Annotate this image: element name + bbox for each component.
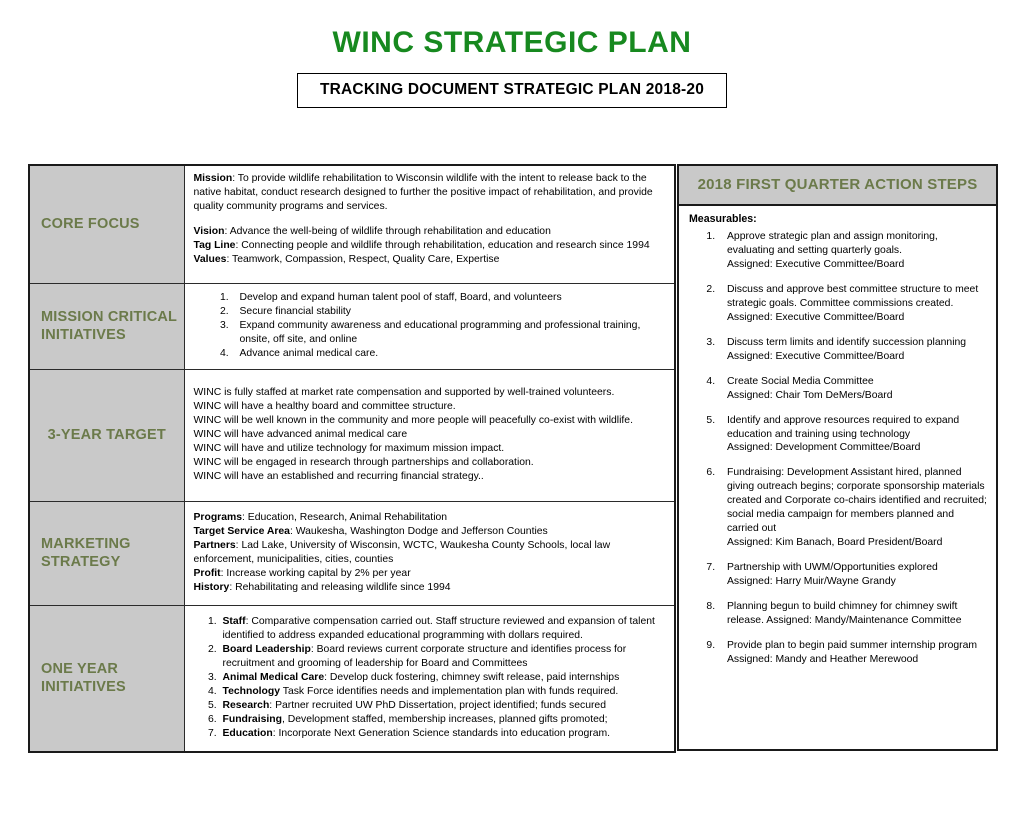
vision-line: Vision: Advance the well-being of wildli… xyxy=(194,225,666,239)
step-text: Provide plan to begin paid summer intern… xyxy=(727,640,977,651)
target-line: WINC will be engaged in research through… xyxy=(194,456,666,470)
row-content-one-year-initiatives: Staff: Comparative compensation carried … xyxy=(184,605,675,752)
step-text: Approve strategic plan and assign monito… xyxy=(727,231,938,256)
profit-line: Profit: Increase working capital by 2% p… xyxy=(194,567,666,581)
list-item: Develop and expand human talent pool of … xyxy=(232,291,666,305)
row-content-marketing-strategy: Programs: Education, Research, Animal Re… xyxy=(184,501,675,605)
list-item: Secure financial stability xyxy=(232,305,666,319)
step-text: Planning begun to build chimney for chim… xyxy=(727,601,962,626)
strategic-plan-sheet: CORE FOCUS Mission: To provide wildlife … xyxy=(28,164,998,753)
target-line: WINC is fully staffed at market rate com… xyxy=(194,386,666,400)
row-content-mission-critical-initiatives: Develop and expand human talent pool of … xyxy=(184,283,675,369)
partners-text: : Lad Lake, University of Wisconsin, WCT… xyxy=(194,540,611,565)
mission-label: Mission xyxy=(194,173,233,184)
table-row-core-focus: CORE FOCUS Mission: To provide wildlife … xyxy=(29,165,675,283)
step-text: Discuss term limits and identify success… xyxy=(727,337,966,348)
step-text: Identify and approve resources required … xyxy=(727,415,959,440)
list-item: Expand community awareness and education… xyxy=(232,319,666,347)
table-row-one-year-initiatives: ONE YEAR INITIATIVES Staff: Comparative … xyxy=(29,605,675,752)
subtitle-container: TRACKING DOCUMENT STRATEGIC PLAN 2018-20 xyxy=(0,73,1024,108)
values-text: : Teamwork, Compassion, Respect, Quality… xyxy=(226,254,499,265)
step-assigned: Assigned: Executive Committee/Board xyxy=(727,258,987,272)
partners-label: Partners xyxy=(194,540,236,551)
step-text: Fundraising: Development Assistant hired… xyxy=(727,467,987,534)
table-row-marketing-strategy: MARKETING STRATEGY Programs: Education, … xyxy=(29,501,675,605)
target-line: WINC will have advanced animal medical c… xyxy=(194,428,666,442)
history-label: History xyxy=(194,582,230,593)
initiative-term: Research xyxy=(223,700,270,711)
mission-critical-list: Develop and expand human talent pool of … xyxy=(194,291,666,361)
list-item: Approve strategic plan and assign monito… xyxy=(718,230,987,272)
target-line: WINC will have and utilize technology fo… xyxy=(194,442,666,456)
list-item: Animal Medical Care: Develop duck foster… xyxy=(220,671,666,685)
row-label-three-year-target: 3-YEAR TARGET xyxy=(29,369,184,501)
strategic-plan-table: CORE FOCUS Mission: To provide wildlife … xyxy=(28,164,676,753)
list-item: Discuss and approve best committee struc… xyxy=(718,283,987,325)
initiative-term: Education xyxy=(223,728,273,739)
tagline-label: Tag Line xyxy=(194,240,236,251)
list-item: Create Social Media CommitteeAssigned: C… xyxy=(718,375,987,403)
one-year-initiatives-list: Staff: Comparative compensation carried … xyxy=(194,615,666,741)
initiative-term: Technology xyxy=(223,686,281,697)
initiative-text: Task Force identifies needs and implemen… xyxy=(280,686,618,697)
step-assigned: Assigned: Mandy and Heather Merewood xyxy=(727,653,987,667)
row-content-three-year-target: WINC is fully staffed at market rate com… xyxy=(184,369,675,501)
programs-text: : Education, Research, Animal Rehabilita… xyxy=(242,512,447,523)
history-line: History: Rehabilitating and releasing wi… xyxy=(194,581,666,595)
step-text: Discuss and approve best committee struc… xyxy=(727,284,978,309)
tagline-line: Tag Line: Connecting people and wildlife… xyxy=(194,239,666,253)
list-item: Technology Task Force identifies needs a… xyxy=(220,685,666,699)
step-assigned: Assigned: Executive Committee/Board xyxy=(727,350,987,364)
step-text: Create Social Media Committee xyxy=(727,376,874,387)
page-title: WINC STRATEGIC PLAN xyxy=(0,26,1024,59)
initiative-text: : Incorporate Next Generation Science st… xyxy=(273,728,610,739)
initiative-term: Staff xyxy=(223,616,246,627)
row-content-core-focus: Mission: To provide wildlife rehabilitat… xyxy=(184,165,675,283)
step-text: Partnership with UWM/Opportunities explo… xyxy=(727,562,938,573)
action-steps-list: Approve strategic plan and assign monito… xyxy=(688,230,987,666)
programs-line: Programs: Education, Research, Animal Re… xyxy=(194,511,666,525)
list-item: Research: Partner recruited UW PhD Disse… xyxy=(220,699,666,713)
list-item: Education: Incorporate Next Generation S… xyxy=(220,727,666,741)
action-steps-heading: 2018 FIRST QUARTER ACTION STEPS xyxy=(679,166,996,206)
values-label: Values xyxy=(194,254,227,265)
initiative-text: : Comparative compensation carried out. … xyxy=(223,616,655,641)
initiative-text: , Development staffed, membership increa… xyxy=(282,714,608,725)
target-line: WINC will be well known in the community… xyxy=(194,414,666,428)
list-item: Provide plan to begin paid summer intern… xyxy=(718,639,987,667)
target-line: WINC will have a healthy board and commi… xyxy=(194,400,666,414)
list-item: Advance animal medical care. xyxy=(232,347,666,361)
list-item: Identify and approve resources required … xyxy=(718,414,987,456)
step-assigned: Assigned: Development Committee/Board xyxy=(727,441,987,455)
row-label-mission-critical-initiatives: MISSION CRITICAL INITIATIVES xyxy=(29,283,184,369)
vision-label: Vision xyxy=(194,226,225,237)
table-row-three-year-target: 3-YEAR TARGET WINC is fully staffed at m… xyxy=(29,369,675,501)
tagline-text: : Connecting people and wildlife through… xyxy=(235,240,649,251)
list-item: Partnership with UWM/Opportunities explo… xyxy=(718,561,987,589)
list-item: Staff: Comparative compensation carried … xyxy=(220,615,666,643)
action-steps-panel: 2018 FIRST QUARTER ACTION STEPS Measurab… xyxy=(677,164,998,751)
initiative-term: Fundraising xyxy=(223,714,282,725)
step-assigned: Assigned: Kim Banach, Board President/Bo… xyxy=(727,536,987,550)
list-item: Fundraising, Development staffed, member… xyxy=(220,713,666,727)
vision-text: : Advance the well-being of wildlife thr… xyxy=(225,226,551,237)
mission-line: Mission: To provide wildlife rehabilitat… xyxy=(194,172,666,214)
programs-label: Programs xyxy=(194,512,243,523)
values-line: Values: Teamwork, Compassion, Respect, Q… xyxy=(194,253,666,267)
list-item: Discuss term limits and identify success… xyxy=(718,336,987,364)
target-service-area-label: Target Service Area xyxy=(194,526,290,537)
mission-text: : To provide wildlife rehabilitation to … xyxy=(194,173,653,212)
row-label-core-focus: CORE FOCUS xyxy=(29,165,184,283)
tracking-document-subtitle: TRACKING DOCUMENT STRATEGIC PLAN 2018-20 xyxy=(297,73,727,108)
step-assigned: Assigned: Executive Committee/Board xyxy=(727,311,987,325)
list-item: Planning begun to build chimney for chim… xyxy=(718,600,987,628)
list-item: Board Leadership: Board reviews current … xyxy=(220,643,666,671)
initiative-text: : Partner recruited UW PhD Dissertation,… xyxy=(269,700,606,711)
action-steps-body: Measurables: Approve strategic plan and … xyxy=(679,206,996,749)
initiative-text: : Develop duck fostering, chimney swift … xyxy=(324,672,619,683)
target-service-area-line: Target Service Area: Waukesha, Washingto… xyxy=(194,525,666,539)
history-text: : Rehabilitating and releasing wildlife … xyxy=(229,582,450,593)
table-row-mission-critical-initiatives: MISSION CRITICAL INITIATIVES Develop and… xyxy=(29,283,675,369)
target-line: WINC will have an established and recurr… xyxy=(194,470,666,484)
profit-label: Profit xyxy=(194,568,221,579)
initiative-term: Board Leadership xyxy=(223,644,311,655)
spacer xyxy=(194,214,666,225)
profit-text: : Increase working capital by 2% per yea… xyxy=(221,568,411,579)
list-item: Fundraising: Development Assistant hired… xyxy=(718,466,987,550)
row-label-marketing-strategy: MARKETING STRATEGY xyxy=(29,501,184,605)
row-label-one-year-initiatives: ONE YEAR INITIATIVES xyxy=(29,605,184,752)
target-service-area-text: : Waukesha, Washington Dodge and Jeffers… xyxy=(290,526,548,537)
measurables-label: Measurables: xyxy=(689,212,987,226)
partners-line: Partners: Lad Lake, University of Wiscon… xyxy=(194,539,666,567)
step-assigned: Assigned: Chair Tom DeMers/Board xyxy=(727,389,987,403)
initiative-term: Animal Medical Care xyxy=(223,672,325,683)
step-assigned: Assigned: Harry Muir/Wayne Grandy xyxy=(727,575,987,589)
